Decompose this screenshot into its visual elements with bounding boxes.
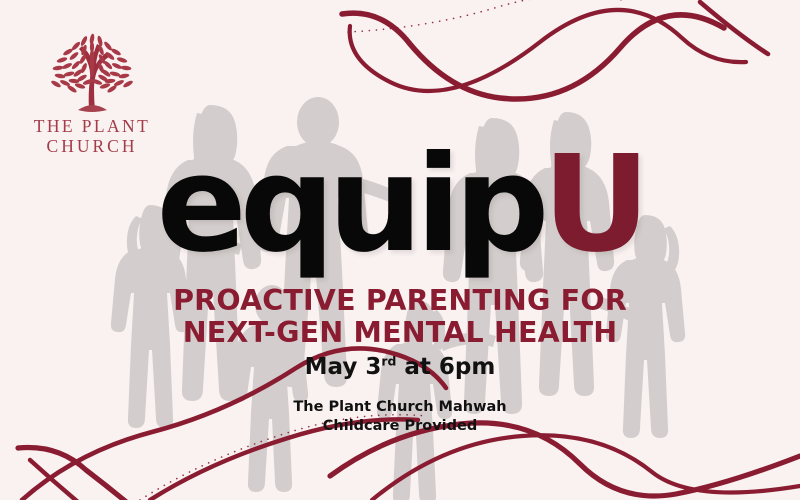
poster-content: equipU PROACTIVE PARENTING FOR NEXT-GEN … xyxy=(0,0,800,500)
venue-line-1: The Plant Church Mahwah xyxy=(0,398,800,417)
venue-line-2: Childcare Provided xyxy=(0,417,800,436)
headline-line-2: NEXT-GEN MENTAL HEALTH xyxy=(0,317,800,349)
event-poster: THE PLANT CHURCH equipU PROACTIVE PARENT… xyxy=(0,0,800,500)
date-time: at 6pm xyxy=(396,354,495,380)
date-ordinal-suffix: rd xyxy=(381,353,396,368)
equipu-wordmark: equipU xyxy=(0,139,800,272)
event-date-time: May 3rd at 6pm xyxy=(0,354,800,381)
event-venue: The Plant Church Mahwah Childcare Provid… xyxy=(0,398,800,436)
event-headline: PROACTIVE PARENTING FOR NEXT-GEN MENTAL … xyxy=(0,285,800,348)
wordmark-equip: equip xyxy=(157,128,543,282)
headline-line-1: PROACTIVE PARENTING FOR xyxy=(0,285,800,317)
wordmark-u: U xyxy=(542,128,643,282)
date-month-day: May 3 xyxy=(305,354,382,380)
